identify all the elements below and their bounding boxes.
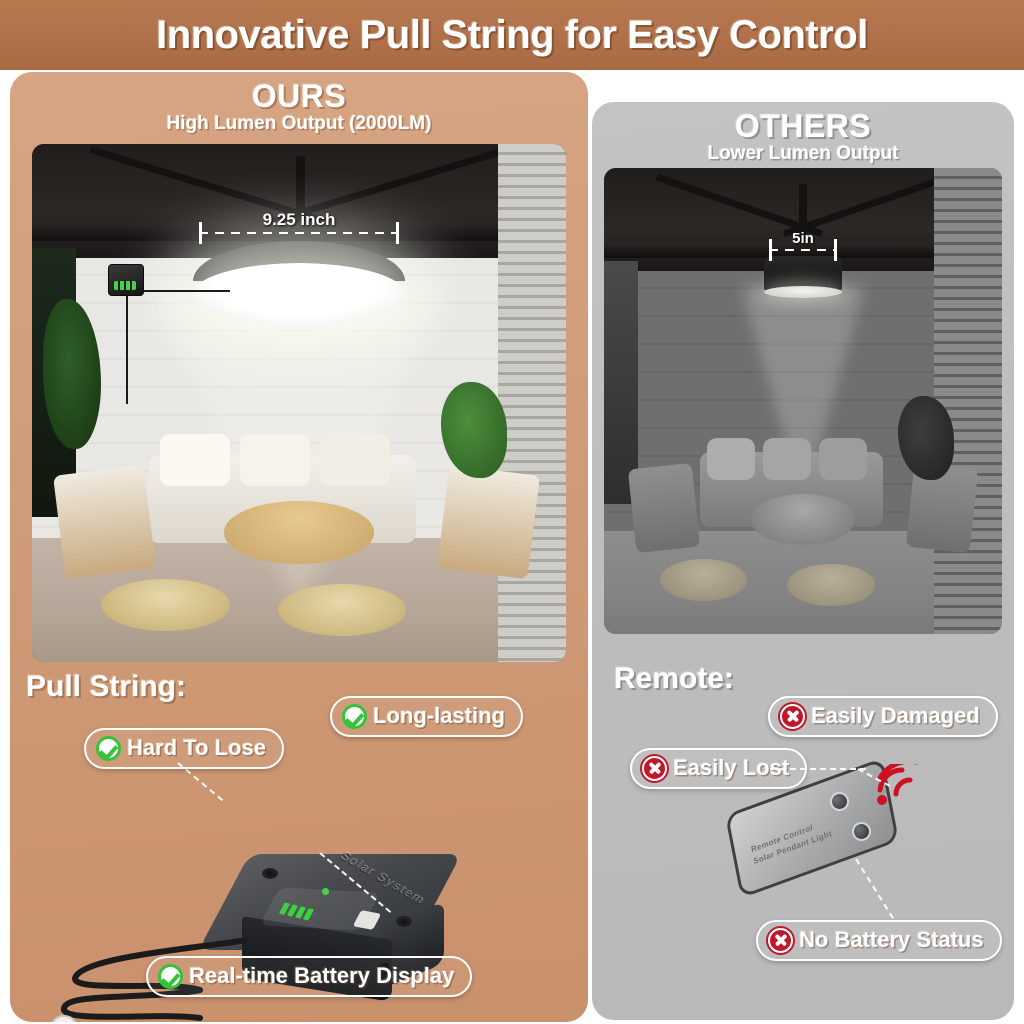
badge-real-time-battery-display[interactable]: Real-time Battery Display (146, 956, 472, 997)
scene-cushion (763, 438, 811, 480)
others-subtitle: Lower Lumen Output (592, 143, 1014, 165)
scene-pouf-right (787, 564, 875, 606)
wall-solar-controller (108, 264, 144, 296)
ours-header: OURS High Lumen Output (2000LM) (10, 72, 588, 135)
others-title: OTHERS (592, 108, 1014, 145)
scene-pouf-left (101, 579, 229, 631)
scene-cushion (320, 434, 389, 486)
x-circle-icon (642, 756, 667, 781)
controller-cable (126, 296, 128, 404)
scene-shutter (498, 144, 566, 662)
x-circle-icon (780, 704, 805, 729)
scene-shutter (934, 168, 1002, 634)
check-circle-icon (342, 704, 367, 729)
others-pendant-light (764, 256, 842, 298)
panel-others: OTHERS Lower Lumen Output 5in (592, 102, 1014, 1020)
ours-subtitle: High Lumen Output (2000LM) (10, 113, 588, 135)
scene-table (224, 501, 374, 563)
badge-label: Easily Lost (673, 755, 789, 781)
ours-title: OURS (10, 78, 588, 115)
panel-ours: OURS High Lumen Output (2000LM) 9.25 inc… (10, 72, 588, 1022)
rf-signal-icon (874, 764, 944, 814)
header-band: Innovative Pull String for Easy Control (0, 0, 1024, 70)
scene-pouf-right (278, 584, 406, 636)
ours-scene-photo: 9.25 inch (32, 144, 566, 662)
badge-label: Real-time Battery Display (189, 963, 454, 989)
badge-no-battery-status[interactable]: No Battery Status (756, 920, 1002, 961)
scene-chair-left (628, 463, 700, 553)
check-circle-icon (158, 964, 183, 989)
others-header: OTHERS Lower Lumen Output (592, 102, 1014, 165)
badge-easily-lost[interactable]: Easily Lost (630, 748, 807, 789)
badge-label: Long-lasting (373, 703, 505, 729)
badge-label: Easily Damaged (811, 703, 980, 729)
ours-dimension-callout: 9.25 inch (199, 210, 399, 234)
others-dimension-callout: 5in (769, 230, 837, 251)
scene-chair-right (437, 465, 540, 579)
others-section-label: Remote: (614, 662, 734, 696)
remote-control-product: Remote Control Solar Pendant Light (728, 786, 898, 896)
box-mount-hole (396, 916, 412, 927)
box-mount-hole (262, 868, 278, 879)
badge-hard-to-lose[interactable]: Hard To Lose (84, 728, 284, 769)
infographic-page: Innovative Pull String for Easy Control … (0, 0, 1024, 1024)
scene-cushion (707, 438, 755, 480)
scene-cushion (240, 434, 309, 486)
box-status-led (322, 888, 329, 895)
scene-cushion (160, 434, 229, 486)
badge-long-lasting[interactable]: Long-lasting (330, 696, 523, 737)
others-scene-photo: 5in (604, 168, 1002, 634)
controller-cable (144, 290, 230, 292)
scene-window-left (604, 261, 638, 503)
scene-table (751, 494, 854, 545)
scene-cushion (819, 438, 867, 480)
badge-label: Hard To Lose (127, 735, 266, 761)
x-circle-icon (768, 928, 793, 953)
ours-section-label: Pull String: (26, 670, 186, 704)
ours-pendant-light (193, 241, 405, 325)
badge-label: No Battery Status (799, 927, 984, 953)
badge-easily-damaged[interactable]: Easily Damaged (768, 696, 998, 737)
scene-chair-right (906, 463, 978, 553)
ours-dimension-label: 9.25 inch (199, 210, 399, 230)
others-dimension-label: 5in (769, 230, 837, 247)
page-title: Innovative Pull String for Easy Control (156, 13, 868, 58)
check-circle-icon (96, 736, 121, 761)
scene-chair-left (53, 465, 156, 579)
